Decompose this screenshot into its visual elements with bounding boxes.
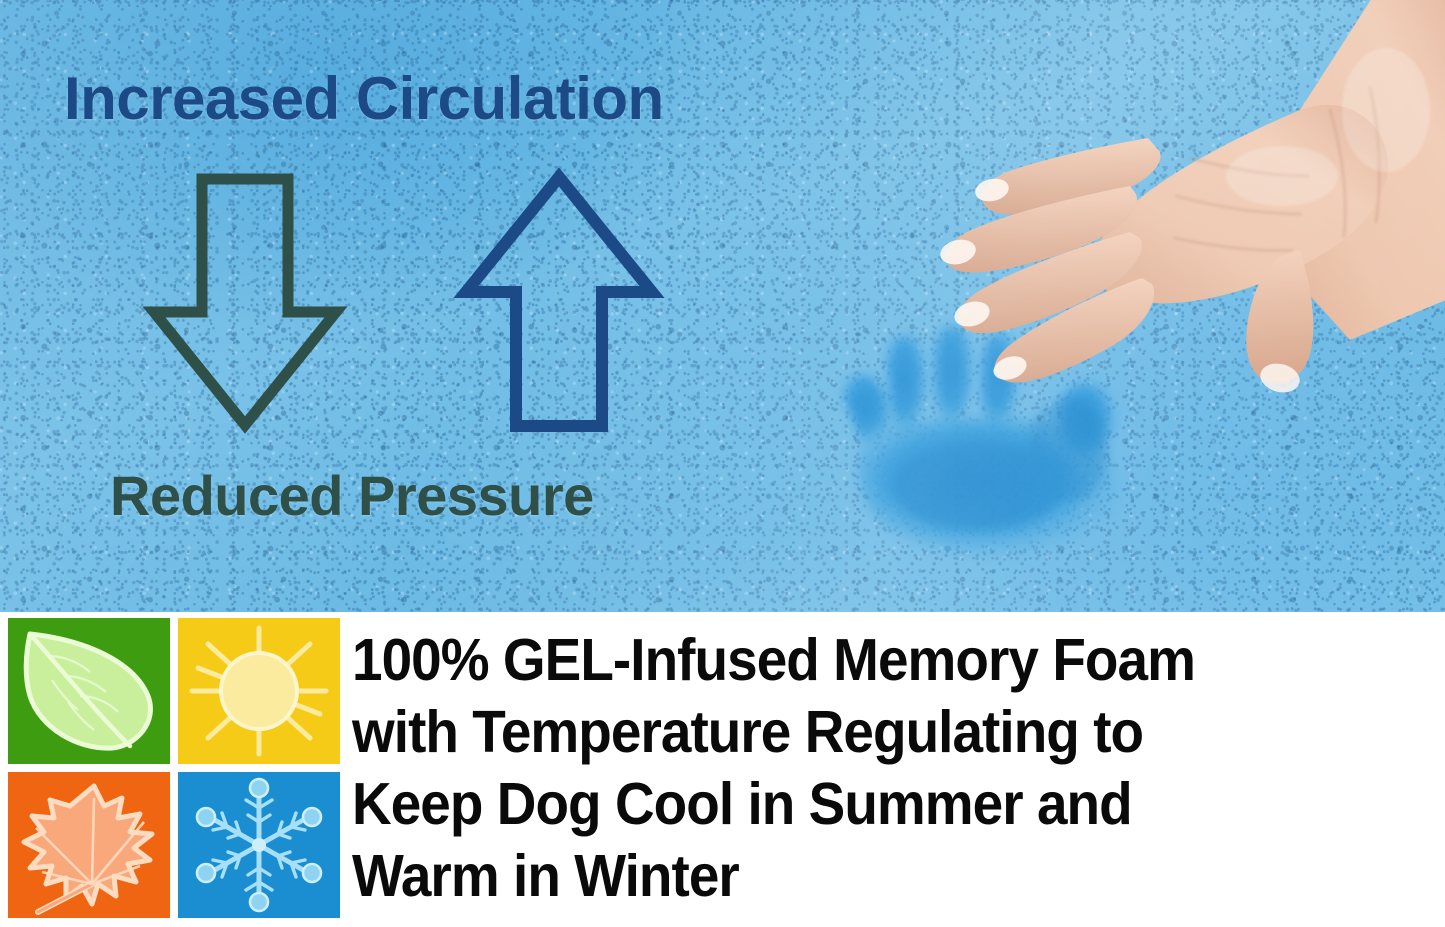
snowflake-icon bbox=[178, 772, 340, 918]
gel-memory-foam-photo: Increased Circulation Reduced Pressure bbox=[0, 0, 1445, 612]
headline-line-4: Warm in Winter bbox=[352, 840, 1368, 912]
season-tile-winter[interactable] bbox=[178, 772, 340, 918]
headline-line-3: Keep Dog Cool in Summer and bbox=[352, 768, 1368, 840]
headline-line-1: 100% GEL-Infused Memory Foam bbox=[352, 624, 1368, 696]
arrow-up-icon bbox=[452, 168, 666, 434]
season-tile-spring[interactable] bbox=[8, 618, 170, 764]
maple-leaf-icon bbox=[8, 772, 170, 918]
product-feature-banner: Increased Circulation Reduced Pressure bbox=[0, 0, 1445, 927]
headline-line-2: with Temperature Regulating to bbox=[352, 696, 1368, 768]
heading-reduced-pressure: Reduced Pressure bbox=[110, 463, 594, 528]
feature-callout-strip: 100% GEL-Infused Memory Foam with Temper… bbox=[0, 612, 1445, 927]
arrow-down-icon bbox=[140, 172, 350, 434]
headline-block: 100% GEL-Infused Memory Foam with Temper… bbox=[352, 624, 1445, 912]
heading-increased-circulation: Increased Circulation bbox=[64, 64, 664, 133]
season-tiles bbox=[8, 618, 340, 920]
sun-icon bbox=[178, 618, 340, 764]
season-tile-autumn[interactable] bbox=[8, 772, 170, 918]
leaf-icon bbox=[8, 618, 170, 764]
season-tile-summer[interactable] bbox=[178, 618, 340, 764]
hand-pressing-foam bbox=[830, 0, 1445, 460]
